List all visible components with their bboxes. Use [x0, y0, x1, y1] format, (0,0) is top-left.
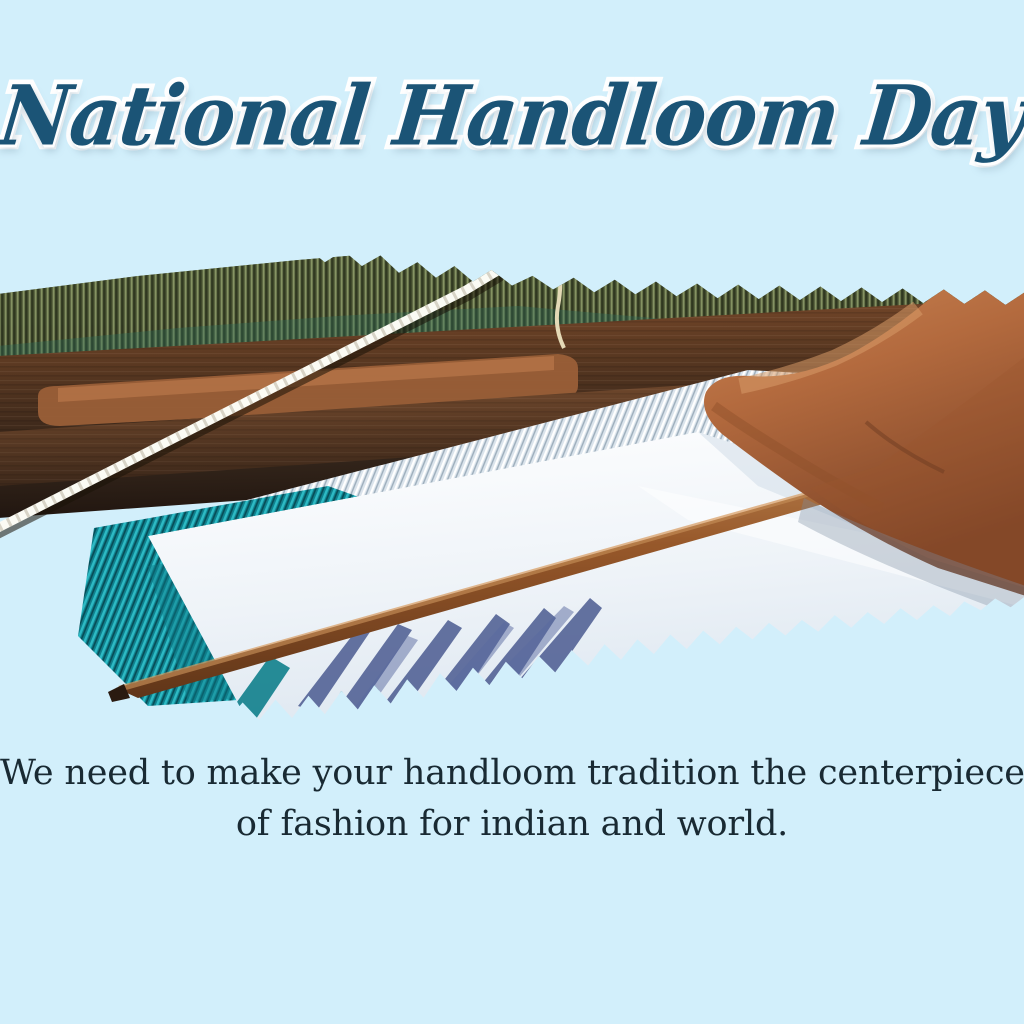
page-title: National Handloom Day	[0, 76, 1024, 159]
handloom-photo	[0, 236, 1024, 722]
caption-line-1: We need to make your handloom tradition …	[0, 748, 1024, 799]
caption-block: We need to make your handloom tradition …	[0, 748, 1024, 850]
handloom-photo-artwork	[0, 236, 1024, 722]
title-block: National Handloom Day	[0, 78, 1024, 156]
caption-line-2: of fashion for indian and world.	[0, 799, 1024, 850]
poster-canvas: National Handloom Day	[0, 0, 1024, 1024]
